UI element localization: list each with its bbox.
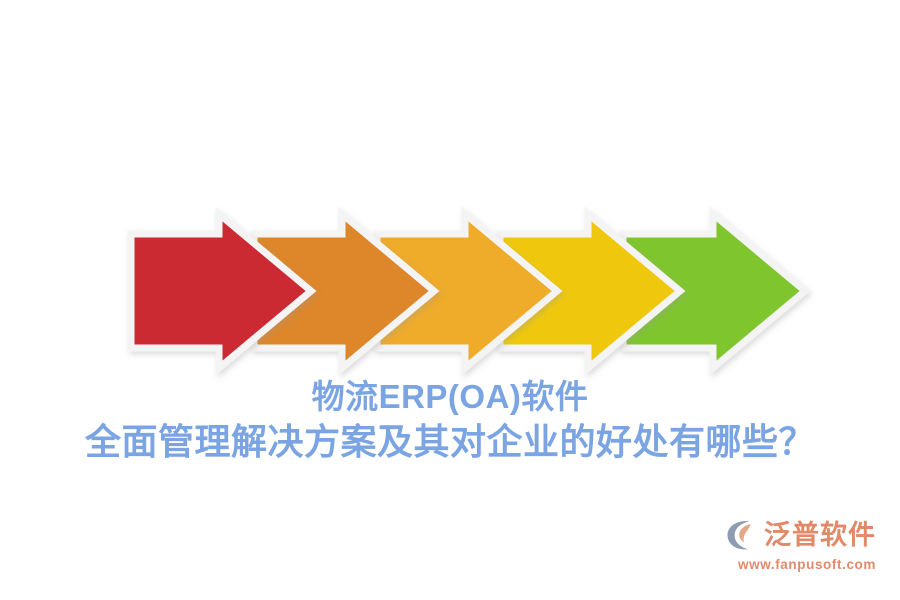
headline-secondary: 全面管理解决方案及其对企业的好处有哪些？ [0, 421, 900, 463]
headline-primary: 物流ERP(OA)软件 [0, 378, 900, 417]
brand-logo-row: 泛普软件 [716, 516, 876, 554]
fanpu-logo-icon [725, 518, 759, 552]
brand-watermark: 泛普软件 www.fanpusoft.com [716, 516, 876, 578]
poster-canvas: 物流ERP(OA)软件 全面管理解决方案及其对企业的好处有哪些？ 泛普软件 ww… [0, 0, 900, 600]
brand-name: 泛普软件 [764, 522, 876, 549]
chevron-process-graphic [0, 0, 900, 600]
brand-url: www.fanpusoft.com [716, 557, 876, 572]
headline-block: 物流ERP(OA)软件 全面管理解决方案及其对企业的好处有哪些？ [0, 378, 900, 463]
